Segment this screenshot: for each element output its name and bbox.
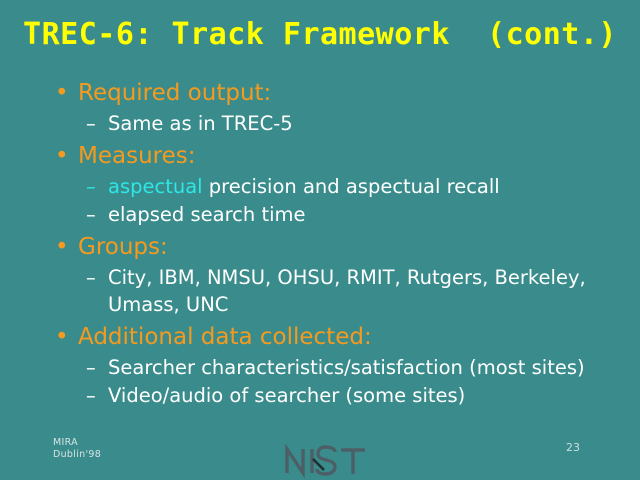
bullet-level2-aspectual-precision-recall: – aspectual precision and aspectual reca… <box>48 173 618 200</box>
nist-logo-icon <box>283 443 373 479</box>
bullet-level1-label: Groups: <box>78 234 168 260</box>
bullet-level2-group-list: – City, IBM, NMSU, OHSU, RMIT, Rutgers, … <box>48 264 618 318</box>
bullet-level2-label: elapsed search time <box>108 203 306 226</box>
dash-icon: – <box>86 382 96 409</box>
bullet-dot-icon: • <box>55 232 69 263</box>
bullet-level1-label: Required output: <box>78 80 271 106</box>
footer-event: Dublin'98 <box>53 449 101 461</box>
bullet-level1-label: Measures: <box>78 143 195 169</box>
page-title: TREC-6: Track Framework (cont.) <box>0 17 640 53</box>
dash-icon: – <box>86 354 96 381</box>
bullet-level1-additional-data: • Additional data collected: <box>48 322 618 353</box>
bullet-dot-icon: • <box>55 78 69 109</box>
bullet-level1-label: Additional data collected: <box>78 324 372 350</box>
footer-conference-label: MIRA Dublin'98 <box>53 437 101 461</box>
dash-icon: – <box>86 173 96 200</box>
bullet-dot-icon: • <box>55 141 69 172</box>
page-number: 23 <box>566 441 580 454</box>
bullet-level2-video-audio-searcher: – Video/audio of searcher (some sites) <box>48 382 618 409</box>
bullet-level2-same-as-trec5: – Same as in TREC-5 <box>48 110 618 137</box>
slide-body-content: • Required output: – Same as in TREC-5 •… <box>48 78 618 410</box>
bullet-level1-measures: • Measures: <box>48 141 618 172</box>
bullet-level1-groups: • Groups: <box>48 232 618 263</box>
slide-canvas: TREC-6: Track Framework (cont.) • Requir… <box>0 0 640 480</box>
bullet-level2-elapsed-search-time: – elapsed search time <box>48 201 618 228</box>
highlighted-term: aspectual <box>108 175 203 198</box>
dash-icon: – <box>86 264 96 291</box>
bullet-level2-label: Video/audio of searcher (some sites) <box>108 384 465 407</box>
bullet-level2-label: precision and aspectual recall <box>203 175 500 198</box>
bullet-level2-label: City, IBM, NMSU, OHSU, RMIT, Rutgers, Be… <box>108 266 586 316</box>
dash-icon: – <box>86 201 96 228</box>
dash-icon: – <box>86 110 96 137</box>
bullet-level2-label: Searcher characteristics/satisfaction (m… <box>108 356 585 379</box>
bullet-level2-searcher-characteristics: – Searcher characteristics/satisfaction … <box>48 354 618 381</box>
bullet-dot-icon: • <box>55 322 69 353</box>
bullet-level2-label: Same as in TREC-5 <box>108 112 293 135</box>
bullet-level1-required-output: • Required output: <box>48 78 618 109</box>
footer-org: MIRA <box>53 437 101 449</box>
